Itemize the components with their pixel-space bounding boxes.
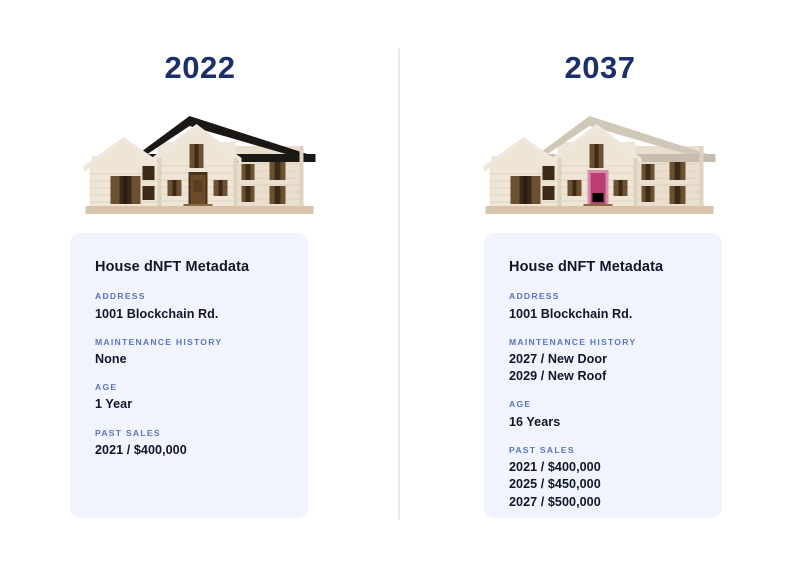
panel-2037: 2037 bbox=[400, 0, 800, 573]
field-value: 16 Years bbox=[509, 414, 698, 431]
field-label: Past Sales bbox=[95, 428, 284, 439]
field-label: Address bbox=[95, 291, 284, 302]
field-value: None bbox=[95, 351, 284, 368]
field-value: 1 Year bbox=[95, 396, 284, 413]
field-value: 2021 / $400,000 2025 / $450,000 2027 / $… bbox=[509, 459, 698, 511]
field-past-sales: Past Sales 2021 / $400,000 2025 / $450,0… bbox=[509, 445, 698, 511]
panel-2022: 2022 bbox=[0, 0, 400, 573]
field-age: Age 1 Year bbox=[95, 382, 284, 413]
value-line: 1 Year bbox=[95, 396, 284, 413]
value-line: 16 Years bbox=[509, 414, 698, 431]
field-label: Age bbox=[95, 382, 284, 393]
field-value: 2021 / $400,000 bbox=[95, 442, 284, 459]
field-value: 1001 Blockchain Rd. bbox=[509, 306, 698, 323]
field-address: Address 1001 Blockchain Rd. bbox=[95, 291, 284, 322]
metadata-card-2022: House dNFT Metadata Address 1001 Blockch… bbox=[70, 233, 308, 518]
field-value: 1001 Blockchain Rd. bbox=[95, 306, 284, 323]
value-line: 2021 / $400,000 bbox=[95, 442, 284, 459]
value-line: 2027 / New Door bbox=[509, 351, 698, 368]
field-label: Maintenance History bbox=[95, 337, 284, 348]
year-heading-2037: 2037 bbox=[400, 52, 800, 83]
value-line: 1001 Blockchain Rd. bbox=[509, 306, 698, 323]
field-maintenance-history: Maintenance History 2027 / New Door 2029… bbox=[509, 337, 698, 386]
value-line: 2029 / New Roof bbox=[509, 368, 698, 385]
field-label: Address bbox=[509, 291, 698, 302]
value-line: 1001 Blockchain Rd. bbox=[95, 306, 284, 323]
house-illustration-2022 bbox=[78, 104, 323, 216]
field-label: Age bbox=[509, 399, 698, 410]
value-line: 2021 / $400,000 bbox=[509, 459, 698, 476]
field-age: Age 16 Years bbox=[509, 399, 698, 430]
year-heading-2022: 2022 bbox=[0, 52, 400, 83]
comparison-diagram: 2022 bbox=[0, 0, 800, 573]
field-maintenance-history: Maintenance History None bbox=[95, 337, 284, 368]
card-title: House dNFT Metadata bbox=[95, 259, 284, 276]
metadata-card-2037: House dNFT Metadata Address 1001 Blockch… bbox=[484, 233, 722, 518]
field-value: 2027 / New Door 2029 / New Roof bbox=[509, 351, 698, 386]
value-line: 2025 / $450,000 bbox=[509, 476, 698, 493]
field-past-sales: Past Sales 2021 / $400,000 bbox=[95, 428, 284, 459]
value-line: None bbox=[95, 351, 284, 368]
field-label: Maintenance History bbox=[509, 337, 698, 348]
house-illustration-2037 bbox=[478, 104, 723, 216]
value-line: 2027 / $500,000 bbox=[509, 494, 698, 511]
field-label: Past Sales bbox=[509, 445, 698, 456]
field-address: Address 1001 Blockchain Rd. bbox=[509, 291, 698, 322]
card-title: House dNFT Metadata bbox=[509, 259, 698, 276]
